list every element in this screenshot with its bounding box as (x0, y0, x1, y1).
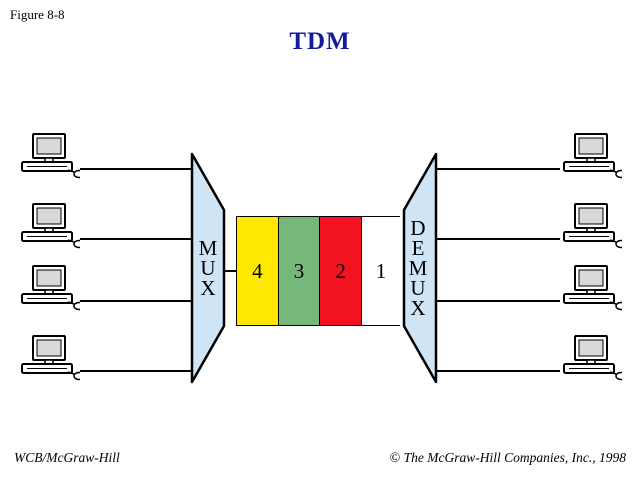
slide-canvas: Figure 8-8 TDM (0, 0, 640, 480)
computer-right-4 (560, 335, 622, 381)
computer-left-2 (18, 203, 80, 249)
wire-right-4 (437, 370, 560, 372)
copyright-icon: © (390, 451, 401, 466)
mux-label: MUX (190, 152, 226, 384)
wire-left-2 (80, 238, 197, 240)
wire-left-1 (80, 168, 193, 170)
computer-right-3 (560, 265, 622, 311)
demux-label: DEMUX (398, 152, 438, 384)
footer-right-text: The McGraw-Hill Companies, Inc., 1998 (404, 450, 626, 465)
wire-right-1 (437, 168, 560, 170)
frame-slot-1: 1 (362, 216, 400, 326)
frame-slot-2-number: 2 (335, 259, 346, 284)
demux-block: DEMUX (398, 152, 438, 384)
footer-left: WCB/McGraw-Hill (14, 450, 120, 466)
wire-left-3 (80, 300, 197, 302)
wire-left-4 (80, 370, 193, 372)
demux-label-text: DEMUX (409, 218, 428, 318)
frame-slot-3: 3 (278, 216, 320, 326)
mux-label-text: MUX (199, 238, 218, 298)
mux-block: MUX (190, 152, 226, 384)
frame-slot-4: 4 (236, 216, 278, 326)
computer-left-3 (18, 265, 80, 311)
computer-left-1 (18, 133, 80, 179)
footer-right: © The McGraw-Hill Companies, Inc., 1998 (390, 450, 626, 467)
frame-slot-3-number: 3 (294, 259, 305, 284)
wire-right-3 (433, 300, 560, 302)
computer-left-4 (18, 335, 80, 381)
computer-right-2 (560, 203, 622, 249)
figure-label: Figure 8-8 (10, 7, 65, 23)
wire-right-2 (433, 238, 560, 240)
frame-slot-4-number: 4 (252, 259, 263, 284)
frame-slot-2: 2 (319, 216, 362, 326)
computer-right-1 (560, 133, 622, 179)
frame-slot-1-number: 1 (376, 259, 387, 284)
tdm-frame: 4 3 2 (236, 216, 362, 326)
page-title: TDM (0, 28, 640, 56)
